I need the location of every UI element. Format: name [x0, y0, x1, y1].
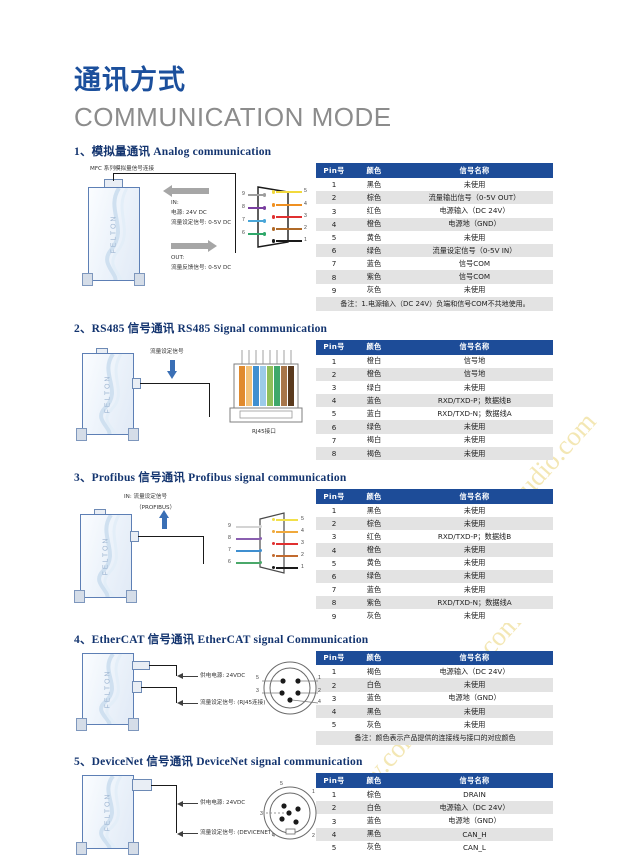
table-row: 1黑色未使用	[316, 504, 553, 517]
table-header-row: Pin号 颜色 信号名称	[316, 163, 553, 178]
col-header-signal: 信号名称	[396, 773, 553, 788]
table-row: 1褐色电源输入（DC 24V）	[316, 665, 553, 678]
m12-pin-number: 2	[318, 688, 321, 694]
cell-signal: 未使用	[396, 178, 553, 191]
diagram-rs485: FELTON 流量设定信号	[74, 340, 312, 446]
db9-pin-number: 3	[301, 540, 304, 546]
device-brand-label: FELTON	[105, 374, 112, 413]
db9-connector-analog: 9 8 7 6 5	[242, 185, 310, 249]
cell-pin: 2	[316, 678, 352, 691]
table-row: 5黄色未使用	[316, 231, 553, 244]
device-power-port	[132, 779, 152, 791]
cell-pin: 8	[316, 270, 352, 283]
cell-pin: 2	[316, 801, 352, 814]
table-row: 4黑色未使用	[316, 705, 553, 718]
db9-pin-number: 5	[301, 516, 304, 522]
col-header-signal: 信号名称	[396, 651, 553, 666]
cell-pin: 2	[316, 517, 352, 530]
db9-wire	[248, 233, 264, 235]
table-row: 4蓝色RXD/TXD-P；数据线B	[316, 394, 553, 407]
db9-pin-number: 1	[304, 237, 307, 243]
db9-wire	[276, 519, 298, 521]
table-row: 2白色电源输入（DC 24V）	[316, 801, 553, 814]
cell-color: 橙色	[352, 543, 396, 556]
col-header-signal: 信号名称	[396, 163, 553, 178]
in-power-label: 电源: 24V DC	[171, 209, 207, 217]
cell-pin: 4	[316, 394, 352, 407]
cell-color: 黑色	[352, 705, 396, 718]
cell-color: 紫色	[352, 596, 396, 609]
m12-connector-devicenet: 5 1 3 2 4	[260, 781, 320, 845]
cell-color: 绿色	[352, 420, 396, 433]
cell-signal: RXD/TXD-N；数据线A	[396, 596, 553, 609]
table-note-row: 备注：1.电源输入（DC 24V）负端和信号COM不共地使用。	[316, 297, 553, 311]
cell-color: 红色	[352, 530, 396, 543]
device-body-mfc: FELTON	[82, 775, 134, 849]
section-heading-rs485: 2、RS485 信号通讯 RS485 Signal communication	[74, 320, 555, 336]
leader-line	[140, 383, 210, 384]
m12-pin-number: 3	[260, 811, 263, 817]
table-row: 7蓝色信号COM	[316, 257, 553, 270]
cell-signal: 信号地	[396, 355, 553, 368]
m12-pin-number: 2	[312, 833, 315, 839]
table-header-row: Pin号 颜色 信号名称	[316, 651, 553, 666]
cell-pin: 5	[316, 557, 352, 570]
leader-line	[235, 173, 236, 253]
section-profibus: 3、Profibus 信号通讯 Profibus signal communic…	[74, 469, 555, 622]
cell-signal: 信号地	[396, 368, 553, 381]
db9-pin-number: 4	[304, 201, 307, 207]
m12-svg	[260, 781, 320, 845]
db9-pin-number: 6	[242, 230, 245, 236]
cell-color: 褐色	[352, 665, 396, 678]
device-foot	[128, 718, 139, 731]
cell-pin: 5	[316, 231, 352, 244]
cell-pin: 7	[316, 583, 352, 596]
pin-table-analog: Pin号 颜色 信号名称 1黑色未使用 2棕色流量输出信号（0-5V OUT） …	[316, 163, 553, 310]
leader-line	[113, 173, 114, 181]
in-label: IN:	[171, 199, 179, 207]
leader-line	[176, 785, 177, 833]
col-header-pin: Pin号	[316, 163, 352, 178]
table-row: 2橙色信号地	[316, 368, 553, 381]
db9-wire	[236, 550, 260, 552]
leader-line	[141, 687, 177, 688]
table-row: 2白色未使用	[316, 678, 553, 691]
leader-line	[209, 383, 210, 417]
db9-pin-number: 5	[304, 188, 307, 194]
cell-color: 橙白	[352, 355, 396, 368]
page-content: 通讯方式 COMMUNICATION MODE 1、模拟量通讯 Analog c…	[0, 0, 629, 863]
table-row: 4橙色电源地（GND）	[316, 218, 553, 231]
col-header-color: 颜色	[352, 163, 396, 178]
in-arrow	[171, 188, 209, 194]
cell-color: 绿白	[352, 381, 396, 394]
leader-line	[138, 536, 204, 537]
db9-wire	[276, 543, 298, 545]
table-wrap-rs485: Pin号 颜色 信号名称 1橙白信号地 2橙色信号地 3绿白未使用 4蓝色RXD…	[312, 340, 555, 460]
out-feedback-label: 流量反馈信号: 0-5V DC	[171, 264, 231, 272]
db9-wire	[276, 204, 302, 206]
table-wrap-ethercat: Pin号 颜色 信号名称 1褐色电源输入（DC 24V） 2白色未使用 3蓝色电…	[312, 651, 555, 746]
power-label: 供电电源: 24VDC	[200, 799, 245, 807]
cell-color: 橙色	[352, 368, 396, 381]
cell-signal: 未使用	[396, 517, 553, 530]
device-brand-label: FELTON	[105, 669, 112, 708]
m12-connector-ethercat: 5 3 1 2 4	[260, 657, 320, 719]
cell-signal: DRAIN	[396, 788, 553, 801]
db9-pin-number: 7	[228, 547, 231, 553]
cell-color: 蓝色	[352, 814, 396, 827]
cell-pin: 3	[316, 381, 352, 394]
cell-signal: CAN_H	[396, 828, 553, 841]
cell-pin: 1	[316, 178, 352, 191]
signal-arrow	[182, 703, 198, 704]
m12-pin-number: 1	[312, 789, 315, 795]
cell-color: 白色	[352, 801, 396, 814]
cell-signal: 未使用	[396, 504, 553, 517]
device-brand-label: FELTON	[105, 793, 112, 832]
cell-color: 棕色	[352, 788, 396, 801]
cell-signal: 未使用	[396, 583, 553, 596]
cell-pin: 5	[316, 407, 352, 420]
db9-wire	[276, 191, 302, 193]
db9-wire	[276, 567, 298, 569]
db9-wire	[276, 216, 302, 218]
table-row: 7褐白未使用	[316, 434, 553, 447]
table-row: 1棕色DRAIN	[316, 788, 553, 801]
cell-color: 棕色	[352, 191, 396, 204]
db9-wire	[236, 526, 260, 528]
cell-signal: RXD/TXD-P；数据线B	[396, 394, 553, 407]
pin-table-devicenet: Pin号 颜色 信号名称 1棕色DRAIN 2白色电源输入（DC 24V） 3蓝…	[316, 773, 553, 854]
cell-signal: 未使用	[396, 231, 553, 244]
cell-pin: 4	[316, 828, 352, 841]
cell-pin: 8	[316, 596, 352, 609]
table-row: 6绿色流量设定信号（0-5V IN）	[316, 244, 553, 257]
cell-color: 绿色	[352, 244, 396, 257]
leader-line	[151, 785, 177, 786]
leader-line	[113, 173, 236, 174]
table-row: 5灰色CAN_L	[316, 841, 553, 854]
db9-wire	[248, 207, 264, 209]
table-row: 8褐色未使用	[316, 447, 553, 460]
table-row: 3蓝色电源地（GND）	[316, 814, 553, 827]
diagram-devicenet: FELTON 供电电源: 24VDC 流量设定信号: (DEVICENET)	[74, 773, 312, 863]
cell-color: 灰色	[352, 718, 396, 731]
cell-signal: RXD/TXD-N；数据线A	[396, 407, 553, 420]
pin-table-ethercat: Pin号 颜色 信号名称 1褐色电源输入（DC 24V） 2白色未使用 3蓝色电…	[316, 651, 553, 746]
m12-pin-number: 5	[256, 675, 259, 681]
col-header-pin: Pin号	[316, 489, 352, 504]
in-label: IN: 流量设定信号	[124, 493, 167, 501]
section-ethercat: 4、EtherCAT 信号通讯 EtherCAT signal Communic…	[74, 631, 555, 746]
table-row: 7蓝色未使用	[316, 583, 553, 596]
table-row: 1黑色未使用	[316, 178, 553, 191]
device-body-mfc: FELTON	[82, 653, 134, 725]
m12-pin-number: 3	[256, 688, 259, 694]
cell-signal: 电源输入（DC 24V）	[396, 665, 553, 678]
table-row: 5蓝白RXD/TXD-N；数据线A	[316, 407, 553, 420]
cell-note: 备注：颜色表示产品提供的连接线与接口的对应颜色	[316, 731, 553, 745]
cell-signal: 未使用	[396, 420, 553, 433]
table-header-row: Pin号 颜色 信号名称	[316, 340, 553, 355]
cell-color: 橙色	[352, 218, 396, 231]
col-header-color: 颜色	[352, 773, 396, 788]
device-body-mfc: FELTON	[82, 353, 134, 435]
power-arrow	[182, 803, 198, 804]
cell-signal: 电源地（GND）	[396, 692, 553, 705]
table-row: 2棕色流量输出信号（0-5V OUT）	[316, 191, 553, 204]
db9-pin-number: 4	[301, 528, 304, 534]
cell-color: 黑色	[352, 828, 396, 841]
db9-pin-number: 7	[242, 217, 245, 223]
cell-pin: 1	[316, 665, 352, 678]
cell-signal: 未使用	[396, 678, 553, 691]
table-row: 8紫色RXD/TXD-N；数据线A	[316, 596, 553, 609]
cell-pin: 7	[316, 257, 352, 270]
db9-pin-number: 9	[242, 191, 245, 197]
cell-signal: 未使用	[396, 705, 553, 718]
cell-pin: 2	[316, 368, 352, 381]
table-row: 3红色电源输入（DC 24V）	[316, 204, 553, 217]
db9-pin-number: 1	[301, 564, 304, 570]
table-row: 5灰色未使用	[316, 718, 553, 731]
diagram-label-top: MFC 系列模拟量信号连接	[90, 165, 154, 173]
cell-signal: 未使用	[396, 447, 553, 460]
col-header-signal: 信号名称	[396, 489, 553, 504]
db9-pin-number: 3	[304, 213, 307, 219]
signal-label: 流量设定信号: (RJ45连接)	[200, 699, 265, 707]
cell-signal: 流量输出信号（0-5V OUT）	[396, 191, 553, 204]
table-row: 5黄色未使用	[316, 557, 553, 570]
device-foot	[82, 273, 93, 286]
leader-line	[149, 665, 177, 666]
col-header-pin: Pin号	[316, 651, 352, 666]
out-label: OUT:	[171, 254, 184, 262]
section-rs485: 2、RS485 信号通讯 RS485 Signal communication …	[74, 320, 555, 460]
rj45-label: RJ45接口	[252, 428, 276, 436]
cell-signal: 未使用	[396, 434, 553, 447]
signal-arrow	[170, 360, 175, 372]
cell-signal: 流量设定信号（0-5V IN）	[396, 244, 553, 257]
cell-color: 蓝白	[352, 407, 396, 420]
table-wrap-profibus: Pin号 颜色 信号名称 1黑色未使用 2棕色未使用 3红色RXD/TXD-P；…	[312, 489, 555, 622]
device-brand-label: FELTON	[103, 537, 110, 576]
pin-table-profibus: Pin号 颜色 信号名称 1黑色未使用 2棕色未使用 3红色RXD/TXD-P；…	[316, 489, 553, 622]
db9-pin-number: 8	[242, 204, 245, 210]
diagram-ethercat: FELTON 供电电源: 24VDC 流量设定信号: (RJ45连接)	[74, 651, 312, 737]
table-row: 3蓝色电源地（GND）	[316, 692, 553, 705]
table-note-row: 备注：颜色表示产品提供的连接线与接口的对应颜色	[316, 731, 553, 745]
cell-signal: CAN_L	[396, 841, 553, 854]
table-row: 8紫色信号COM	[316, 270, 553, 283]
cell-color: 紫色	[352, 270, 396, 283]
pin-table-rs485: Pin号 颜色 信号名称 1橙白信号地 2橙色信号地 3绿白未使用 4蓝色RXD…	[316, 340, 553, 460]
cell-signal: 电源输入（DC 24V）	[396, 801, 553, 814]
device-power-port	[132, 661, 150, 670]
section-devicenet: 5、DeviceNet 信号通讯 DeviceNet signal commun…	[74, 753, 555, 863]
cell-pin: 5	[316, 841, 352, 854]
cell-pin: 4	[316, 705, 352, 718]
cell-color: 蓝色	[352, 257, 396, 270]
cell-pin: 5	[316, 718, 352, 731]
db9-wire	[276, 555, 298, 557]
cell-signal: RXD/TXD-P；数据线B	[396, 530, 553, 543]
cell-color: 灰色	[352, 284, 396, 297]
table-row: 3红色RXD/TXD-P；数据线B	[316, 530, 553, 543]
table-row: 6绿色未使用	[316, 570, 553, 583]
cell-color: 棕色	[352, 517, 396, 530]
db9-pin-number: 6	[228, 559, 231, 565]
cell-signal: 未使用	[396, 543, 553, 556]
section-heading-ethercat: 4、EtherCAT 信号通讯 EtherCAT signal Communic…	[74, 631, 555, 647]
table-row: 3绿白未使用	[316, 381, 553, 394]
device-foot	[126, 590, 137, 603]
device-foot	[134, 273, 145, 286]
power-label: 供电电源: 24VDC	[200, 672, 245, 680]
cell-color: 蓝色	[352, 583, 396, 596]
diagram-analog: MFC 系列模拟量信号连接 FELTON	[74, 163, 312, 291]
device-body-mfc: FELTON	[88, 187, 140, 281]
cell-pin: 3	[316, 692, 352, 705]
cell-color: 黄色	[352, 557, 396, 570]
cell-signal: 信号COM	[396, 257, 553, 270]
cell-color: 蓝色	[352, 692, 396, 705]
cell-signal: 电源地（GND）	[396, 814, 553, 827]
cell-signal: 未使用	[396, 381, 553, 394]
cell-pin: 6	[316, 420, 352, 433]
cell-pin: 3	[316, 814, 352, 827]
table-row: 2棕色未使用	[316, 517, 553, 530]
cell-color: 灰色	[352, 841, 396, 854]
cell-pin: 6	[316, 244, 352, 257]
in-protocol-label: （PROFIBUS）	[136, 504, 175, 512]
col-header-color: 颜色	[352, 651, 396, 666]
m12-pin-number: 4	[272, 833, 275, 839]
cell-pin: 2	[316, 191, 352, 204]
table-row: 6绿色未使用	[316, 420, 553, 433]
m12-pin-number: 1	[318, 675, 321, 681]
cell-signal: 未使用	[396, 570, 553, 583]
cell-signal: 电源输入（DC 24V）	[396, 204, 553, 217]
table-row: 4橙色未使用	[316, 543, 553, 556]
device-brand-label: FELTON	[111, 215, 118, 254]
cell-color: 褐白	[352, 434, 396, 447]
device-body-mfc: FELTON	[80, 514, 132, 598]
power-arrow	[182, 676, 198, 677]
cell-color: 白色	[352, 678, 396, 691]
db9-wire	[236, 562, 260, 564]
cell-pin: 9	[316, 284, 352, 297]
cell-signal: 未使用	[396, 609, 553, 622]
device-foot	[76, 842, 87, 855]
db9-wire	[276, 531, 298, 533]
cell-color: 黑色	[352, 504, 396, 517]
cell-color: 灰色	[352, 609, 396, 622]
device-foot	[128, 842, 139, 855]
section-heading-analog: 1、模拟量通讯 Analog communication	[74, 143, 555, 159]
m12-pin-number: 4	[318, 699, 321, 705]
cell-color: 黄色	[352, 231, 396, 244]
signal-arrow	[162, 517, 167, 529]
col-header-color: 颜色	[352, 340, 396, 355]
out-arrow	[171, 243, 209, 249]
cell-pin: 7	[316, 434, 352, 447]
db9-wire	[276, 240, 302, 242]
cell-pin: 8	[316, 447, 352, 460]
cell-pin: 3	[316, 530, 352, 543]
rj45-connector: RJ45接口	[226, 350, 308, 436]
section-analog: 1、模拟量通讯 Analog communication MFC 系列模拟量信号…	[74, 143, 555, 310]
rj45-svg	[226, 350, 308, 428]
db9-pin-number: 9	[228, 523, 231, 529]
cell-pin: 4	[316, 543, 352, 556]
table-row: 9灰色未使用	[316, 609, 553, 622]
diagram-profibus: IN: 流量设定信号 （PROFIBUS） FELTON	[74, 489, 312, 609]
cell-signal: 未使用	[396, 718, 553, 731]
db9-wire	[248, 220, 264, 222]
cell-color: 褐色	[352, 447, 396, 460]
db9-wire	[276, 228, 302, 230]
db9-pin-number: 2	[304, 225, 307, 231]
cell-color: 蓝色	[352, 394, 396, 407]
col-header-color: 颜色	[352, 489, 396, 504]
page-title-cn: 通讯方式	[74, 0, 555, 96]
cell-signal: 未使用	[396, 284, 553, 297]
db9-wire	[236, 538, 260, 540]
table-row: 9灰色未使用	[316, 284, 553, 297]
page-title-en: COMMUNICATION MODE	[74, 103, 555, 132]
device-foot	[76, 718, 87, 731]
signal-arrow	[182, 833, 198, 834]
cell-pin: 1	[316, 788, 352, 801]
cell-color: 绿色	[352, 570, 396, 583]
cell-signal: 电源地（GND）	[396, 218, 553, 231]
signal-label: 流量设定信号	[150, 348, 184, 356]
db9-pin-number: 8	[228, 535, 231, 541]
device-foot	[76, 428, 87, 441]
cell-pin: 3	[316, 204, 352, 217]
table-wrap-devicenet: Pin号 颜色 信号名称 1棕色DRAIN 2白色电源输入（DC 24V） 3蓝…	[312, 773, 555, 854]
section-heading-profibus: 3、Profibus 信号通讯 Profibus signal communic…	[74, 469, 555, 485]
table-row: 1橙白信号地	[316, 355, 553, 368]
table-header-row: Pin号 颜色 信号名称	[316, 489, 553, 504]
table-header-row: Pin号 颜色 信号名称	[316, 773, 553, 788]
db9-connector-profibus: 9 8 7 6 5 4	[224, 511, 310, 577]
cell-pin: 4	[316, 218, 352, 231]
col-header-pin: Pin号	[316, 340, 352, 355]
col-header-pin: Pin号	[316, 773, 352, 788]
m12-svg	[260, 657, 320, 719]
cell-color: 黑色	[352, 178, 396, 191]
cell-pin: 6	[316, 570, 352, 583]
leader-line	[203, 536, 204, 564]
cell-pin: 9	[316, 609, 352, 622]
section-heading-devicenet: 5、DeviceNet 信号通讯 DeviceNet signal commun…	[74, 753, 555, 769]
db9-pin-number: 2	[301, 552, 304, 558]
cell-color: 红色	[352, 204, 396, 217]
cell-signal: 信号COM	[396, 270, 553, 283]
cell-pin: 1	[316, 355, 352, 368]
db9-wire	[248, 194, 264, 196]
in-setpoint-label: 流量设定信号: 0-5V DC	[171, 219, 231, 227]
table-wrap-analog: Pin号 颜色 信号名称 1黑色未使用 2棕色流量输出信号（0-5V OUT） …	[312, 163, 555, 310]
cell-pin: 1	[316, 504, 352, 517]
m12-pin-number: 5	[280, 781, 283, 787]
col-header-signal: 信号名称	[396, 340, 553, 355]
cell-signal: 未使用	[396, 557, 553, 570]
